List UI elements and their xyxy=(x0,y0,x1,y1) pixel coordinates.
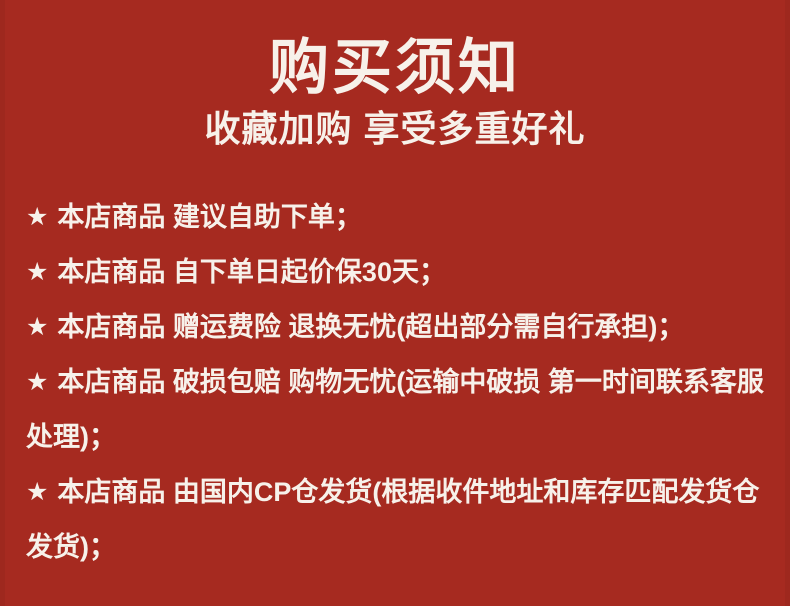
list-item: ★本店商品 建议自助下单； xyxy=(26,190,772,245)
list-item-text: 本店商品 建议自助下单； xyxy=(57,202,362,232)
star-icon: ★ xyxy=(26,300,48,355)
list-item: ★本店商品 破损包赔 购物无忧(运输中破损 第一时间联系客服处理)； xyxy=(26,355,772,465)
list-item-text: 本店商品 破损包赔 购物无忧(运输中破损 第一时间联系客服处理)； xyxy=(26,367,764,452)
notice-list: ★本店商品 建议自助下单； ★本店商品 自下单日起价保30天； ★本店商品 赠运… xyxy=(26,190,772,575)
list-item: ★本店商品 自下单日起价保30天； xyxy=(26,245,772,300)
list-item: ★本店商品 赠运费险 退换无忧(超出部分需自行承担)； xyxy=(26,300,772,355)
heading-block: 购买须知 收藏加购 享受多重好礼 xyxy=(0,33,790,153)
list-item-text: 本店商品 由国内CP仓发货(根据收件地址和库存匹配发货仓发货)； xyxy=(26,477,759,562)
star-icon: ★ xyxy=(26,355,48,410)
star-icon: ★ xyxy=(26,190,48,245)
list-item-text: 本店商品 自下单日起价保30天； xyxy=(57,257,446,287)
list-item-text: 本店商品 赠运费险 退换无忧(超出部分需自行承担)； xyxy=(57,312,684,342)
star-icon: ★ xyxy=(26,465,48,520)
purchase-notice-banner: 购买须知 收藏加购 享受多重好礼 ★本店商品 建议自助下单； ★本店商品 自下单… xyxy=(0,0,790,606)
list-item: ★本店商品 由国内CP仓发货(根据收件地址和库存匹配发货仓发货)； xyxy=(26,465,772,575)
star-icon: ★ xyxy=(26,245,48,300)
page-title: 购买须知 xyxy=(0,33,790,103)
page-subtitle: 收藏加购 享受多重好礼 xyxy=(0,105,790,153)
